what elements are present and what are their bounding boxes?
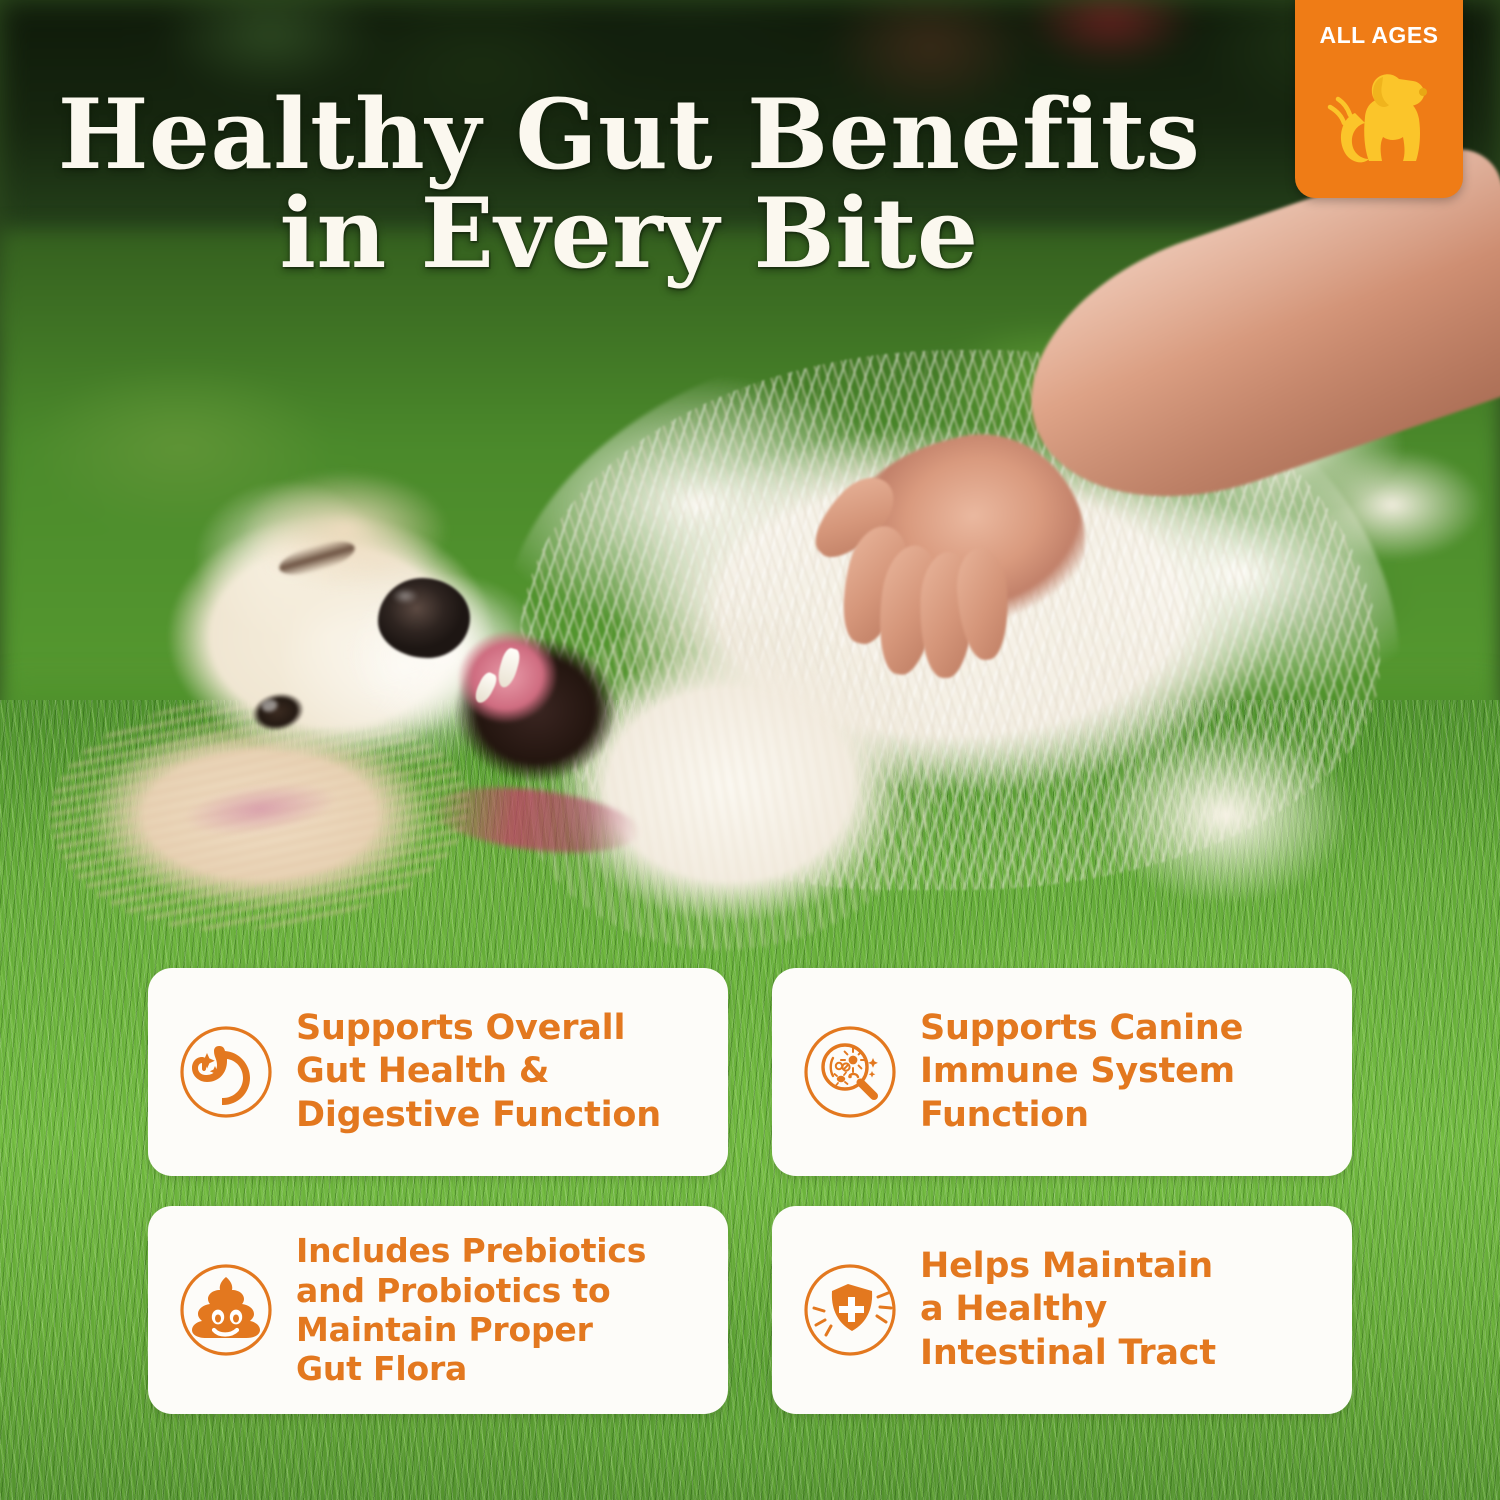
all-ages-badge: ALL AGES [1295,0,1463,198]
sitting-dog-icon [1325,55,1433,178]
benefit-card-text: Supports Canine Immune System Function [920,1007,1243,1136]
benefit-cards-grid: Supports Overall Gut Health & Digestive … [148,968,1352,1414]
benefit-card-text: Supports Overall Gut Health & Digestive … [296,1007,661,1136]
benefit-card-text: Helps Maintain a Healthy Intestinal Trac… [920,1245,1216,1374]
all-ages-label: ALL AGES [1319,22,1438,49]
magnifier-microbes-icon [800,1022,900,1122]
benefit-card-intestinal-tract[interactable]: Helps Maintain a Healthy Intestinal Trac… [772,1206,1352,1414]
benefit-card-gut-health[interactable]: Supports Overall Gut Health & Digestive … [148,968,728,1176]
shield-plus-icon [800,1260,900,1360]
dog-lower-leg [1060,700,1390,930]
benefit-card-immune-system[interactable]: Supports Canine Immune System Function [772,968,1352,1176]
benefit-card-text: Includes Prebiotics and Probiotics to Ma… [296,1231,646,1388]
stomach-icon [176,1022,276,1122]
benefit-card-prebiotics-probiotics[interactable]: Includes Prebiotics and Probiotics to Ma… [148,1206,728,1414]
dog-nose [378,578,470,658]
product-benefits-poster: Healthy Gut Benefits in Every Bite ALL A… [0,0,1500,1500]
smiling-poop-icon [176,1260,276,1360]
dog-nose-highlight [392,588,418,604]
